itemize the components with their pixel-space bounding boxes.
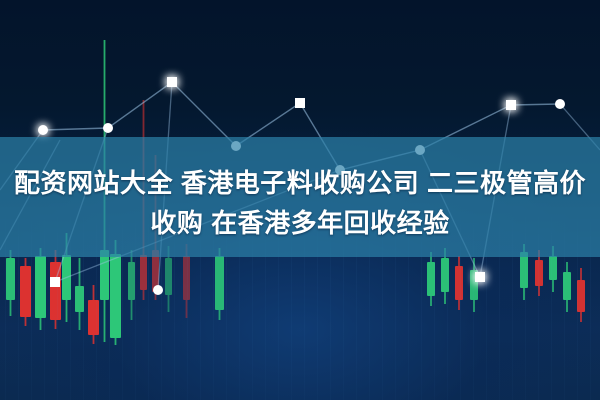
network-node-circle bbox=[555, 99, 565, 109]
network-node-square bbox=[475, 272, 485, 282]
network-node-square bbox=[167, 77, 177, 87]
network-node-circle bbox=[38, 125, 48, 135]
network-node-circle bbox=[103, 123, 113, 133]
network-node-square bbox=[50, 277, 60, 287]
banner-image: 配资网站大全 香港电子料收购公司 二三极管高价 收购 在香港多年回收经验 bbox=[0, 0, 600, 400]
headline-text: 配资网站大全 香港电子料收购公司 二三极管高价 收购 在香港多年回收经验 bbox=[0, 163, 600, 243]
network-node-circle bbox=[153, 285, 163, 295]
network-node-square bbox=[295, 98, 305, 108]
network-node-square bbox=[506, 100, 516, 110]
headline-line-1: 配资网站大全 香港电子料收购公司 二三极管高价 bbox=[0, 163, 600, 203]
headline-line-2: 收购 在香港多年回收经验 bbox=[0, 203, 600, 243]
